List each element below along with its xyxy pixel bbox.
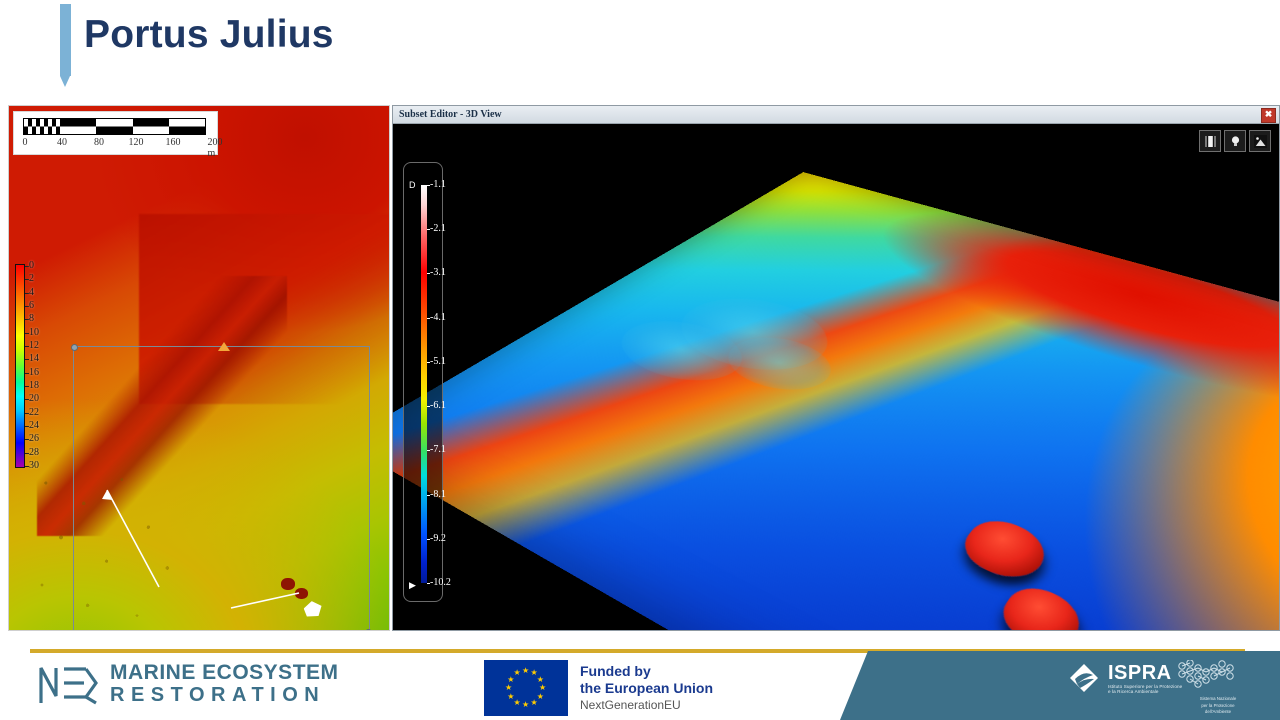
snpa-line-2: per la Protezione	[1172, 703, 1264, 709]
selection-handle-br[interactable]	[365, 629, 372, 631]
window-title: Subset Editor - 3D View	[393, 109, 502, 120]
scale-bar: 0 40 80 120 160 200 m	[13, 111, 218, 155]
scale-seg-4	[133, 119, 169, 134]
scale-label-40: 40	[57, 137, 67, 148]
seabed-object-2	[295, 588, 308, 599]
depth-label-2: 2	[29, 274, 34, 284]
depth-label-30: 30	[29, 461, 39, 471]
seabed-object-1	[281, 578, 295, 590]
mound-2	[992, 580, 1090, 630]
eu-star-6: ★	[531, 699, 538, 707]
depth-label-0: 0	[29, 261, 34, 271]
depth-label-10: 10	[29, 328, 39, 338]
eu-star-9: ★	[507, 693, 514, 701]
eu-flag-icon: ★★★★★★★★★★★★	[484, 660, 568, 716]
depth-color-legend: 024681012141618202224262830	[11, 264, 45, 468]
orientation-marker-icon	[218, 342, 230, 351]
3d-depth-legend: D ▶ -1.1-2.1-3.1-4.1-5.1-6.1-7.1-8.1-9.2…	[403, 162, 443, 602]
eu-star-7: ★	[522, 701, 529, 709]
3d-viewport[interactable]: D ▶ -1.1-2.1-3.1-4.1-5.1-6.1-7.1-8.1-9.2…	[393, 124, 1279, 630]
ispra-logo: ISPRA Istituto Superiore per la Protezio…	[1068, 662, 1182, 694]
subset-editor-window[interactable]: Subset Editor - 3D View ✖ D ▶ -1.1-2.1-3…	[392, 105, 1280, 631]
scale-seg-2	[60, 119, 96, 134]
depth-label-20: 20	[29, 394, 39, 404]
mer-line-2: RESTORATION	[110, 685, 339, 706]
legend-label--3.1: -3.1	[430, 268, 446, 278]
scale-label-0: 0	[23, 137, 28, 148]
mer-line-1: MARINE ECOSYSTEM	[110, 662, 339, 684]
terrain-icon[interactable]	[1249, 130, 1271, 152]
legend-label--6.1: -6.1	[430, 401, 446, 411]
eu-star-1: ★	[522, 667, 529, 675]
depth-color-ramp	[15, 264, 25, 468]
eu-star-8: ★	[514, 699, 521, 707]
eu-funding-logo: ★★★★★★★★★★★★ Funded by the European Unio…	[484, 660, 713, 716]
depth-label-12: 12	[29, 341, 39, 351]
legend-label--8.1: -8.1	[430, 490, 446, 500]
eu-line-3: NextGenerationEU	[580, 698, 713, 712]
legend-label--5.1: -5.1	[430, 357, 446, 367]
scale-label-120: 120	[129, 137, 144, 148]
depth-label-24: 24	[29, 421, 39, 431]
depth-label-4: 4	[29, 288, 34, 298]
scale-seg-1	[24, 119, 60, 134]
legend-label--2.1: -2.1	[430, 224, 446, 234]
depth-label-8: 8	[29, 314, 34, 324]
depth-label-16: 16	[29, 368, 39, 378]
eu-star-10: ★	[505, 684, 512, 692]
lightbulb-icon[interactable]	[1224, 130, 1246, 152]
mer-logo: MARINE ECOSYSTEM RESTORATION	[38, 662, 339, 706]
depth-label-28: 28	[29, 448, 39, 458]
mer-monogram-icon	[38, 662, 100, 706]
eu-star-12: ★	[514, 669, 521, 677]
ispra-mark-icon	[1068, 662, 1100, 694]
legend-label--10.2: -10.2	[430, 578, 451, 588]
eu-star-5: ★	[537, 693, 544, 701]
legend-label--7.1: -7.1	[430, 445, 446, 455]
snpa-line-3: dell'Ambiente	[1172, 709, 1264, 715]
depth-label-14: 14	[29, 354, 39, 364]
bathymetry-map-panel[interactable]: 0 40 80 120 160 200 m 024681012141618202…	[8, 105, 390, 631]
window-titlebar[interactable]: Subset Editor - 3D View ✖	[393, 106, 1279, 124]
close-icon[interactable]: ✖	[1261, 108, 1276, 123]
depth-label-26: 26	[29, 434, 39, 444]
snpa-line-1: Sistema Nazionale	[1172, 696, 1264, 702]
page-title: Portus Julius	[84, 15, 334, 54]
scale-bar-labels: 0 40 80 120 160 200 m	[23, 137, 219, 151]
eu-star-4: ★	[539, 684, 546, 692]
depth-label-6: 6	[29, 301, 34, 311]
scale-label-80: 80	[94, 137, 104, 148]
footer: MARINE ECOSYSTEM RESTORATION ★★★★★★★★★★★…	[0, 640, 1280, 720]
mound-1	[953, 512, 1056, 587]
eu-line-1: Funded by	[580, 663, 713, 680]
snpa-logo: Sistema Nazionale per la Protezione dell…	[1172, 660, 1264, 704]
filmstrip-icon[interactable]	[1199, 130, 1221, 152]
legend-label--1.1: -1.1	[430, 180, 446, 190]
snpa-hexagon-icon	[1172, 660, 1264, 690]
title-accent-bar	[60, 4, 71, 76]
depth-label-18: 18	[29, 381, 39, 391]
scale-seg-5	[169, 119, 205, 134]
depth-label-22: 22	[29, 408, 39, 418]
selection-handle-tl[interactable]	[71, 344, 78, 351]
scale-label-200: 200 m	[208, 137, 223, 159]
3d-view-toolbar[interactable]	[1199, 130, 1271, 152]
legend-label--9.2: -9.2	[430, 534, 446, 544]
3d-depth-color-ramp	[421, 185, 427, 583]
subset-selection-rectangle[interactable]	[73, 346, 370, 631]
legend-label--4.1: -4.1	[430, 313, 446, 323]
scale-bar-graphic	[23, 118, 206, 135]
bathymetric-3d-surface	[393, 172, 1279, 630]
3d-surface-wrapper	[393, 124, 1279, 630]
scale-seg-3	[96, 119, 132, 134]
legend-bottom-arrow-icon: ▶	[409, 580, 416, 591]
legend-top-glyph-icon: D	[409, 180, 416, 190]
eu-line-2: the European Union	[580, 680, 713, 697]
scale-label-160: 160	[166, 137, 181, 148]
